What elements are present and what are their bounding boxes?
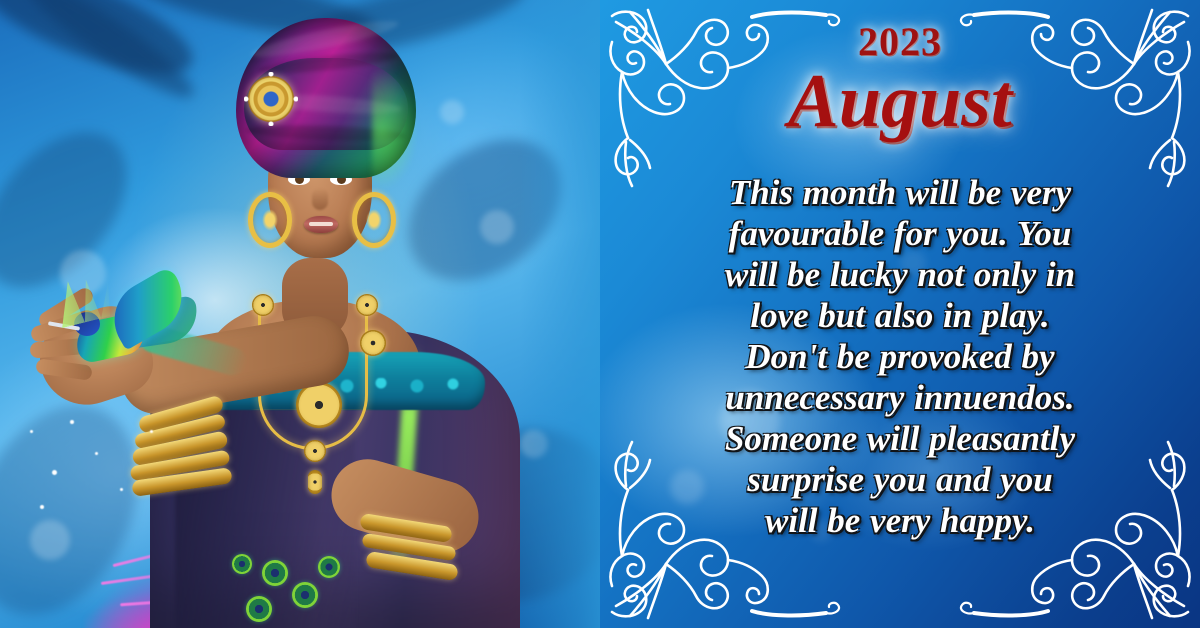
forecast-line: Someone will pleasantly xyxy=(725,419,1075,458)
nose xyxy=(312,188,328,210)
turban-brooch xyxy=(248,76,294,122)
peacock-eye xyxy=(262,560,288,586)
forecast-text: This month will be very favourable for y… xyxy=(660,172,1140,541)
necklace-medallion xyxy=(304,440,326,462)
text-panel: 2023 August This month will be very favo… xyxy=(600,0,1200,628)
forecast-line: will be lucky not only in xyxy=(725,255,1075,294)
horoscope-card: 2023 August This month will be very favo… xyxy=(0,0,1200,628)
sparkle xyxy=(70,420,74,424)
peacock-eye xyxy=(232,554,252,574)
month-title: August xyxy=(600,58,1200,145)
sparkle xyxy=(150,430,153,433)
sparkle xyxy=(52,470,57,475)
turban-rim-light xyxy=(372,70,418,190)
sparkle xyxy=(95,452,98,455)
sparkle xyxy=(30,430,33,433)
gold-earring xyxy=(248,192,292,248)
forecast-line: unnecessary innuendos. xyxy=(725,378,1074,417)
necklace-pendant xyxy=(308,470,322,494)
artwork-panel xyxy=(0,0,600,628)
sparkle xyxy=(120,488,123,491)
forecast-line: will be very happy. xyxy=(765,501,1035,540)
woman-figure xyxy=(0,0,600,628)
necklace-medallion xyxy=(252,294,274,316)
necklace-medallion xyxy=(296,382,342,428)
gold-earring xyxy=(352,192,396,248)
forecast-line: This month will be very xyxy=(729,173,1071,212)
forecast-line: love but also in play. xyxy=(750,296,1049,335)
necklace-medallion xyxy=(360,330,386,356)
lips xyxy=(304,216,338,233)
peacock-eye xyxy=(292,582,318,608)
necklace-medallion xyxy=(356,294,378,316)
peacock-eye xyxy=(318,556,340,578)
sparkle xyxy=(40,505,44,509)
forecast-line: surprise you and you xyxy=(747,460,1052,499)
forecast-line: favourable for you. You xyxy=(729,214,1072,253)
forecast-line: Don't be provoked by xyxy=(745,337,1054,376)
flourish-rule-icon xyxy=(750,600,1050,618)
peacock-eye xyxy=(246,596,272,622)
